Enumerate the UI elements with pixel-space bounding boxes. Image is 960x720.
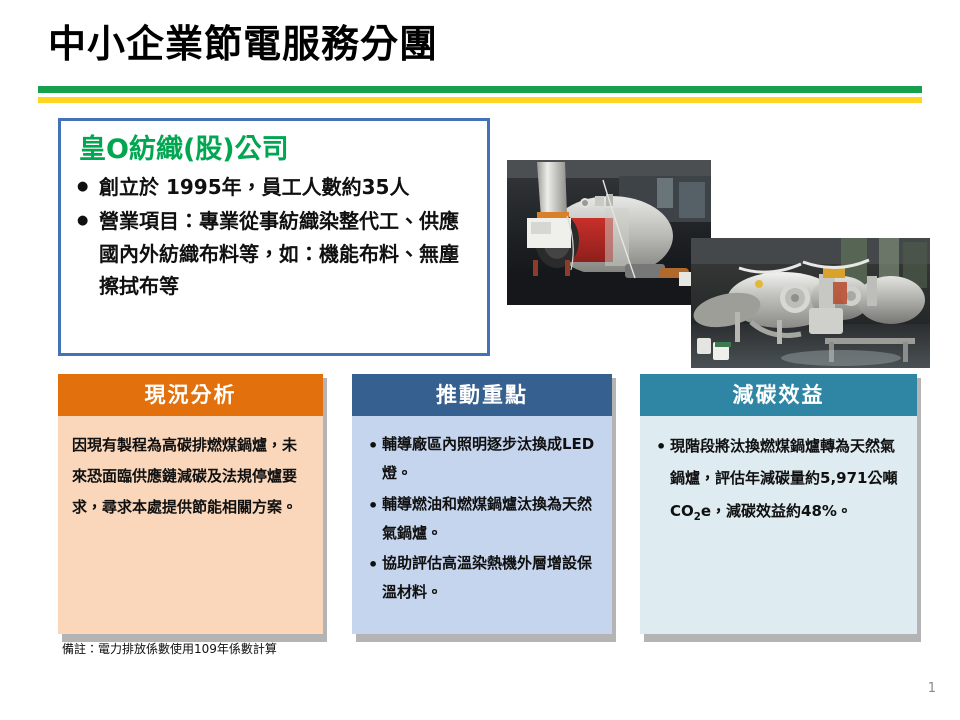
list-item: 協助評估高溫染熱機外層增設保溫材料。: [366, 549, 600, 608]
co2-subscript: 2: [694, 512, 701, 523]
list-item: 現階段將汰換燃煤鍋爐轉為天然氣鍋爐，評估年減碳量約5,971公噸CO2e，減碳效…: [654, 430, 905, 528]
company-name: 皇O紡織(股)公司: [79, 133, 475, 167]
panel-promotion-focus-list: 輔導廠區內照明逐步汰換成LED燈。 輔導燃油和燃煤鍋爐汰換為天然氣鍋爐。 協助評…: [366, 430, 600, 608]
coal-fired-boiler-photo: [507, 160, 711, 305]
panel-promotion-focus-body: 輔導廠區內照明逐步汰換成LED燈。 輔導燃油和燃煤鍋爐汰換為天然氣鍋爐。 協助評…: [352, 416, 612, 634]
panel-current-analysis-text: 因現有製程為高碳排燃煤鍋爐，未來恐面臨供應鏈減碳及法規停爐要求，尋求本處提供節能…: [72, 430, 311, 522]
panel-carbon-reduction-benefit-list: 現階段將汰換燃煤鍋爐轉為天然氣鍋爐，評估年減碳量約5,971公噸CO2e，減碳效…: [654, 430, 905, 528]
page-number: 1: [928, 681, 936, 696]
company-info-box: 皇O紡織(股)公司 創立於 1995年，員工人數約35人 營業項目：專業從事紡織…: [58, 118, 490, 356]
benefit-text-part2: e，減碳效益約48%。: [701, 502, 852, 520]
page-title: 中小企業節電服務分團: [48, 24, 438, 66]
panel-carbon-reduction-benefit-header: 減碳效益: [640, 374, 917, 416]
panel-carbon-reduction-benefit: 減碳效益 現階段將汰換燃煤鍋爐轉為天然氣鍋爐，評估年減碳量約5,971公噸CO2…: [640, 374, 917, 634]
footnote: 備註：電力排放係數使用109年係數計算: [62, 640, 277, 657]
panel-current-analysis-header: 現況分析: [58, 374, 323, 416]
panel-current-analysis-body: 因現有製程為高碳排燃煤鍋爐，未來恐面臨供應鏈減碳及法規停爐要求，尋求本處提供節能…: [58, 416, 323, 634]
list-item: 營業項目：專業從事紡織染整代工、供應國內外紡織布料等，如：機能布料、無塵擦拭布等: [77, 205, 475, 302]
panel-carbon-reduction-benefit-body: 現階段將汰換燃煤鍋爐轉為天然氣鍋爐，評估年減碳量約5,971公噸CO2e，減碳效…: [640, 416, 917, 634]
divider-green-bar: [38, 86, 922, 93]
high-temperature-dyeing-machine-photo: [691, 238, 930, 368]
panel-promotion-focus: 推動重點 輔導廠區內照明逐步汰換成LED燈。 輔導燃油和燃煤鍋爐汰換為天然氣鍋爐…: [352, 374, 612, 634]
panel-promotion-focus-header: 推動重點: [352, 374, 612, 416]
divider-yellow-bar: [38, 97, 922, 103]
company-info-list: 創立於 1995年，員工人數約35人 營業項目：專業從事紡織染整代工、供應國內外…: [77, 171, 475, 303]
list-item: 輔導廠區內照明逐步汰換成LED燈。: [366, 430, 600, 489]
list-item: 輔導燃油和燃煤鍋爐汰換為天然氣鍋爐。: [366, 490, 600, 549]
list-item: 創立於 1995年，員工人數約35人: [77, 171, 475, 203]
panel-current-analysis: 現況分析 因現有製程為高碳排燃煤鍋爐，未來恐面臨供應鏈減碳及法規停爐要求，尋求本…: [58, 374, 323, 634]
